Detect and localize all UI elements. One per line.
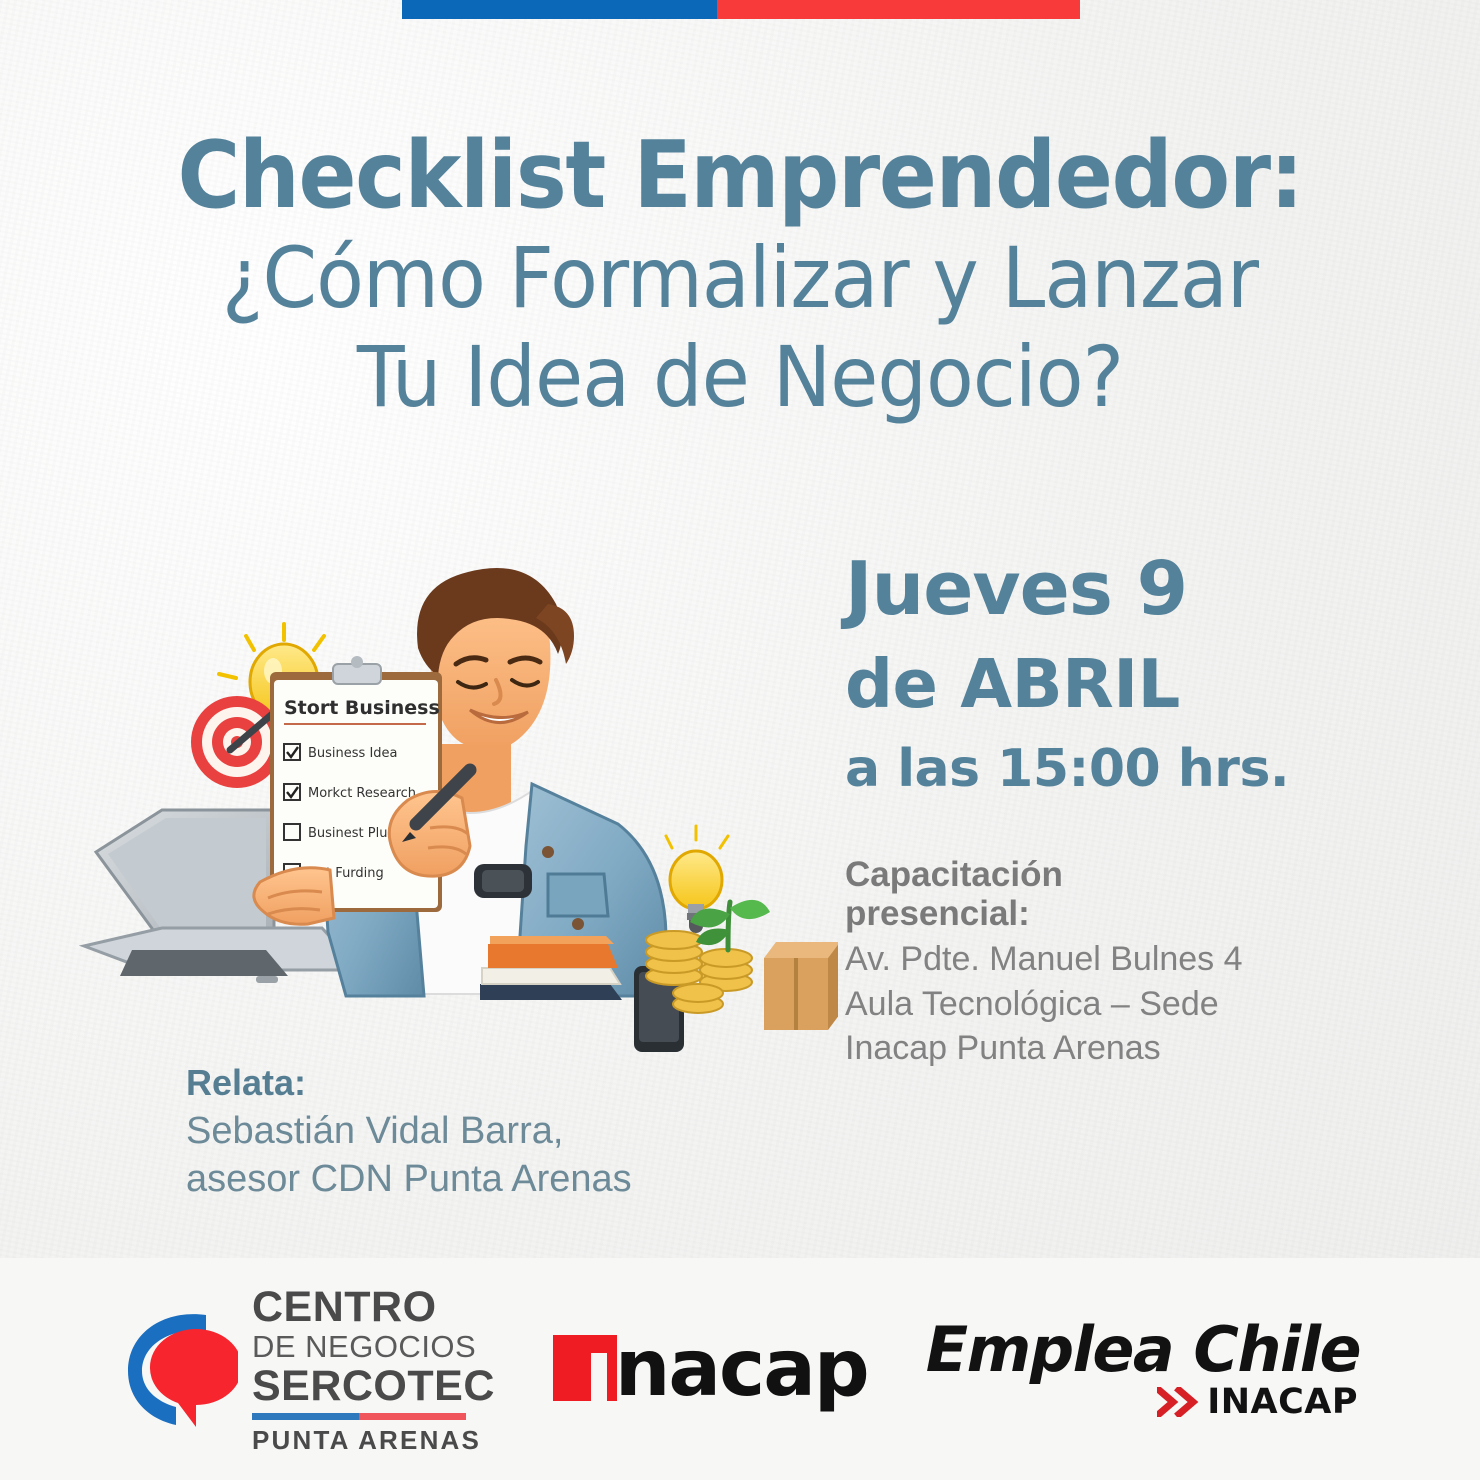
venue-address-line-2: Aula Tecnológica – Sede — [845, 982, 1325, 1026]
double-chevron-icon — [1157, 1387, 1199, 1417]
page-title: Checklist Emprendedor: ¿Cómo Formalizar … — [0, 128, 1480, 427]
footer-logos: CENTRO DE NEGOCIOS SERCOTEC PUNTA ARENAS — [0, 1258, 1480, 1480]
venue-address-line-3: Inacap Punta Arenas — [845, 1026, 1325, 1070]
venue-address-line-1: Av. Pdte. Manuel Bulnes 4 — [845, 937, 1325, 981]
venue-heading-line-1: Capacitación — [845, 855, 1325, 894]
sercotec-wordmark: CENTRO DE NEGOCIOS SERCOTEC PUNTA ARENAS — [252, 1286, 495, 1453]
logo-emplea-chile: Emplea Chile INACAP — [926, 1319, 1360, 1420]
speaker-block: Relata: Sebastián Vidal Barra, asesor CD… — [186, 1062, 806, 1203]
sercotec-line-centro: CENTRO — [252, 1286, 495, 1329]
title-line-1: Checklist Emprendedor: — [59, 128, 1421, 223]
event-datetime-block: Jueves 9 de ABRIL a las 15:00 hrs. — [845, 552, 1315, 795]
footer-logo-band: CENTRO DE NEGOCIOS SERCOTEC PUNTA ARENAS — [0, 1258, 1480, 1480]
sercotec-flag-stripe — [252, 1413, 466, 1420]
speaker-role: asesor CDN Punta Arenas — [186, 1156, 806, 1204]
title-line-2: ¿Cómo Formalizar y Lanzar — [52, 229, 1428, 328]
speaker-details: Sebastián Vidal Barra, asesor CDN Punta … — [186, 1108, 806, 1203]
venue-block: Capacitación presencial: Av. Pdte. Manue… — [845, 855, 1325, 1070]
flag-bar-blue-segment — [402, 0, 717, 19]
speaker-label: Relata: — [186, 1062, 806, 1103]
emplea-inacap-label: INACAP — [1207, 1385, 1358, 1420]
title-line-3: Tu Idea de Negocio? — [52, 328, 1428, 427]
poster-canvas: Checklist Emprendedor: ¿Cómo Formalizar … — [0, 0, 1480, 1480]
package-box-icon — [764, 942, 838, 1030]
logo-inacap: nacap — [553, 1335, 868, 1403]
svg-text:Businest Plun: Businest Plun — [308, 826, 396, 841]
event-date-day: Jueves 9 — [845, 552, 1315, 626]
emplea-chile-subline: INACAP — [926, 1385, 1358, 1420]
svg-text:Stort Business: Stort Business — [284, 697, 440, 719]
event-date-month: de ABRIL — [845, 651, 1315, 718]
stripe-red — [359, 1413, 466, 1420]
books-icon — [480, 936, 622, 1000]
chile-flag-bar — [402, 0, 1080, 19]
inacap-red-square-icon — [553, 1335, 617, 1401]
svg-text:Business Idea: Business Idea — [308, 746, 398, 761]
logo-centro-de-negocios-sercotec: CENTRO DE NEGOCIOS SERCOTEC PUNTA ARENAS — [120, 1286, 495, 1453]
sercotec-line-sercotec: SERCOTEC — [252, 1365, 495, 1408]
entrepreneur-illustration: Stort Business Business Idea Morkct Rese… — [78, 552, 838, 1052]
emplea-chile-wordmark: Emplea Chile — [926, 1319, 1360, 1381]
inacap-wordmark: nacap — [615, 1336, 868, 1403]
event-time: a las 15:00 hrs. — [845, 743, 1315, 795]
sercotec-line-de-negocios: DE NEGOCIOS — [252, 1331, 495, 1362]
venue-heading-line-2: presencial: — [845, 894, 1325, 933]
venue-address: Av. Pdte. Manuel Bulnes 4 Aula Tecnológi… — [845, 937, 1325, 1070]
sercotec-speech-bubble-icon — [120, 1303, 238, 1435]
flag-bar-red-segment — [717, 0, 1080, 19]
sercotec-line-punta-arenas: PUNTA ARENAS — [252, 1427, 495, 1453]
svg-text:Morkct Research: Morkct Research — [308, 786, 416, 801]
stripe-blue — [252, 1413, 359, 1420]
speaker-name: Sebastián Vidal Barra, — [186, 1108, 806, 1156]
